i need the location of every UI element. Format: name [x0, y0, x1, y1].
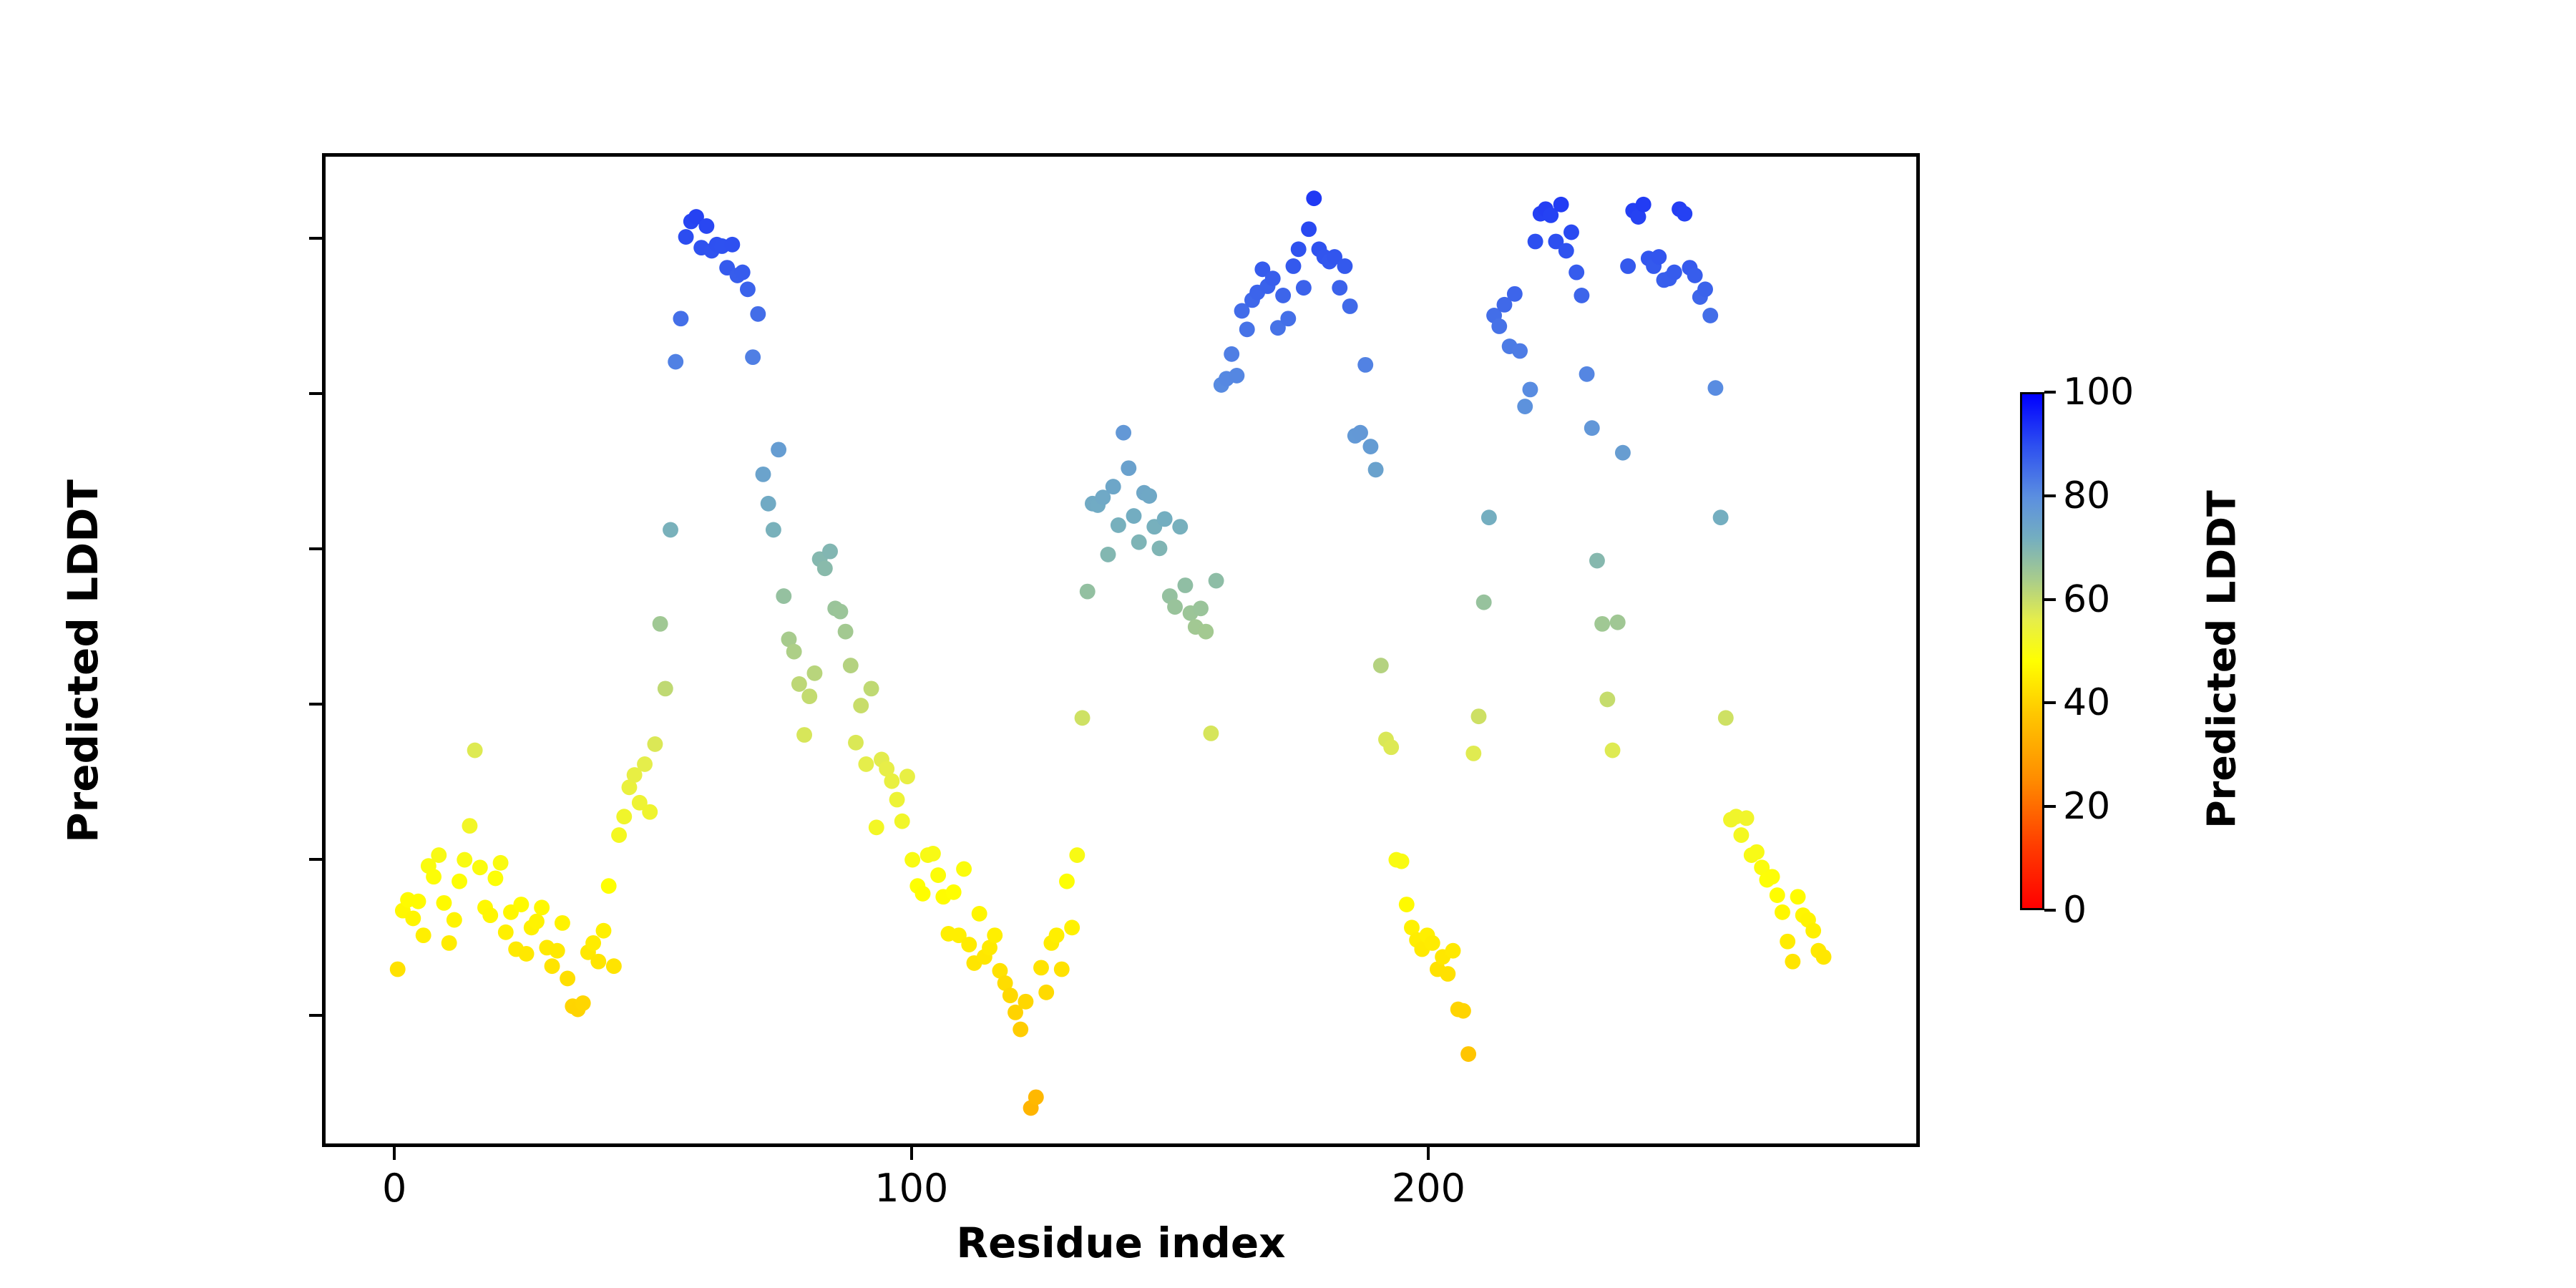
scatter-point: [1075, 710, 1091, 726]
scatter-point: [1352, 425, 1368, 441]
scatter-point: [596, 923, 612, 939]
x-tick-mark: [910, 1147, 913, 1160]
scatter-point: [1342, 298, 1358, 314]
x-tick-label: 200: [1342, 1166, 1514, 1211]
scatter-point: [1713, 509, 1729, 525]
scatter-point: [904, 852, 920, 868]
scatter-point: [1357, 357, 1373, 373]
scatter-point: [529, 914, 545, 930]
scatter-point: [1667, 265, 1682, 280]
scatter-point: [550, 943, 565, 959]
figure-canvas: 405060708090 0100200 Residue index Predi…: [0, 0, 2576, 1288]
scatter-point: [1805, 923, 1821, 939]
scatter-point: [745, 349, 761, 365]
scatter-point: [642, 804, 658, 820]
colorbar-tick-mark: [2044, 909, 2056, 912]
colorbar-tick-mark: [2044, 701, 2056, 704]
scatter-point: [1121, 460, 1136, 476]
scatter-point: [1059, 874, 1075, 889]
scatter-point: [658, 680, 673, 696]
y-tick-mark: [309, 237, 322, 240]
colorbar-gradient: [2020, 392, 2044, 910]
scatter-point: [1476, 595, 1492, 610]
scatter-point: [1399, 897, 1415, 912]
scatter-point: [1198, 624, 1214, 640]
scatter-point: [441, 935, 457, 951]
scatter-point: [405, 910, 421, 926]
scatter-point: [590, 954, 606, 970]
colorbar-tick-mark: [2044, 805, 2056, 808]
scatter-point: [853, 698, 869, 713]
scatter-point: [493, 855, 509, 871]
scatter-point: [796, 727, 812, 743]
colorbar-tick-label: 100: [2063, 371, 2134, 414]
scatter-point: [832, 604, 848, 620]
scatter-point: [487, 870, 503, 886]
scatter-point: [1579, 366, 1595, 382]
scatter-point: [1286, 258, 1302, 274]
scatter-point: [1224, 346, 1239, 362]
scatter-point: [416, 927, 431, 943]
scatter-point: [1177, 577, 1193, 593]
scatter-point: [1620, 258, 1636, 274]
scatter-point: [1116, 425, 1131, 441]
scatter-point: [930, 867, 946, 883]
colorbar: 020406080100: [2020, 392, 2044, 910]
scatter-point: [1394, 854, 1410, 869]
scatter-point: [1816, 949, 1832, 965]
scatter-point: [534, 899, 550, 915]
scatter-point: [1507, 286, 1523, 302]
scatter-point: [1455, 1003, 1471, 1019]
scatter-point: [791, 676, 807, 692]
scatter-point: [858, 756, 874, 772]
scatter-point: [946, 884, 962, 900]
scatter-point: [698, 218, 714, 234]
x-tick-mark: [393, 1147, 396, 1160]
scatter-point: [1049, 927, 1065, 943]
scatter-point: [1677, 206, 1692, 222]
scatter-point: [801, 688, 817, 704]
scatter-point: [1101, 547, 1116, 562]
scatter-point: [1770, 887, 1785, 903]
scatter-point: [426, 869, 441, 884]
scatter-point: [668, 354, 683, 370]
scatter-point: [673, 311, 688, 326]
scatter-point: [1553, 197, 1569, 213]
scatter-point: [555, 915, 570, 931]
scatter-points-layer: [326, 157, 1916, 1143]
scatter-point: [843, 658, 859, 673]
scatter-point: [1280, 311, 1296, 326]
scatter-point: [616, 809, 632, 824]
scatter-point: [750, 306, 766, 322]
scatter-point: [1296, 280, 1312, 296]
scatter-point: [1306, 190, 1322, 206]
scatter-point: [1362, 439, 1378, 454]
scatter-point: [452, 874, 467, 889]
scatter-point: [601, 878, 617, 894]
scatter-point: [462, 818, 477, 834]
scatter-point: [1780, 934, 1795, 950]
scatter-point: [1599, 692, 1615, 708]
scatter-point: [899, 769, 915, 784]
scatter-point: [1785, 954, 1800, 970]
scatter-point: [1332, 280, 1347, 296]
scatter-point: [1739, 810, 1755, 826]
scatter-point: [637, 756, 653, 772]
scatter-point: [1636, 197, 1652, 213]
scatter-point: [1465, 746, 1481, 761]
scatter-point: [1765, 869, 1780, 884]
colorbar-label: Predicted LDDT: [2200, 374, 2245, 946]
scatter-point: [1512, 343, 1528, 359]
scatter-point: [647, 736, 663, 752]
scatter-point: [1167, 599, 1183, 615]
scatter-point: [498, 924, 514, 940]
scatter-point: [1038, 985, 1054, 1000]
scatter-point: [1106, 479, 1121, 494]
scatter-point: [1574, 288, 1589, 303]
scatter-point: [1707, 380, 1723, 396]
scatter-point: [761, 496, 776, 512]
scatter-point: [1517, 399, 1533, 414]
scatter-point: [889, 792, 905, 808]
scatter-point: [467, 743, 483, 758]
scatter-point: [771, 441, 786, 457]
scatter-point: [1471, 708, 1487, 724]
scatter-point: [1697, 281, 1713, 297]
scatter-point: [457, 852, 472, 868]
scatter-point: [1141, 488, 1157, 504]
scatter-point: [1152, 540, 1168, 556]
scatter-point: [1440, 966, 1455, 982]
scatter-point: [884, 774, 899, 789]
scatter-point: [472, 859, 488, 875]
scatter-point: [786, 644, 802, 660]
scatter-point: [1275, 288, 1291, 303]
scatter-point: [1157, 511, 1173, 527]
scatter-point: [1064, 919, 1080, 935]
scatter-point: [1080, 584, 1096, 600]
colorbar-tick-mark: [2044, 391, 2056, 394]
x-tick-label: 100: [826, 1166, 997, 1211]
scatter-point: [1383, 739, 1399, 755]
scatter-point: [848, 735, 864, 751]
plot-area: [322, 153, 1920, 1147]
y-tick-mark: [309, 1014, 322, 1017]
scatter-point: [1775, 904, 1790, 920]
scatter-point: [1131, 535, 1147, 550]
scatter-point: [1522, 381, 1538, 397]
scatter-point: [822, 544, 838, 560]
scatter-point: [1481, 509, 1497, 525]
scatter-point: [1111, 517, 1126, 533]
scatter-point: [1610, 615, 1626, 630]
scatter-point: [956, 862, 972, 877]
scatter-point: [1033, 960, 1049, 975]
colorbar-tick-label: 80: [2063, 474, 2110, 517]
scatter-point: [1584, 420, 1600, 436]
scatter-point: [611, 827, 627, 843]
colorbar-tick-mark: [2044, 598, 2056, 601]
scatter-point: [1291, 241, 1307, 257]
scatter-point: [925, 846, 941, 862]
y-tick-mark: [309, 703, 322, 706]
scatter-point: [1203, 726, 1219, 741]
scatter-point: [1528, 234, 1543, 250]
scatter-point: [1193, 600, 1209, 616]
scatter-point: [1337, 258, 1352, 274]
y-axis-label: Predicted LDDT: [59, 303, 107, 1019]
scatter-point: [1790, 889, 1806, 904]
scatter-point: [766, 522, 781, 538]
scatter-point: [436, 895, 452, 911]
scatter-point: [1209, 573, 1224, 589]
scatter-point: [724, 237, 740, 253]
scatter-point: [1239, 321, 1255, 337]
scatter-point: [447, 912, 462, 928]
x-tick-label: 0: [308, 1166, 480, 1211]
scatter-point: [1425, 935, 1440, 951]
scatter-point: [1002, 987, 1018, 1003]
scatter-point: [756, 467, 771, 482]
scatter-point: [1718, 710, 1734, 726]
scatter-point: [735, 265, 751, 280]
scatter-point: [1028, 1089, 1044, 1105]
scatter-point: [869, 819, 884, 835]
scatter-point: [1563, 225, 1579, 240]
colorbar-tick-label: 0: [2063, 889, 2087, 932]
scatter-point: [817, 560, 833, 576]
scatter-point: [1229, 368, 1244, 384]
scatter-point: [1558, 243, 1574, 259]
scatter-point: [915, 886, 931, 902]
x-axis-label: Residue index: [322, 1219, 1920, 1267]
colorbar-tick-label: 40: [2063, 681, 2110, 724]
scatter-point: [1445, 943, 1461, 959]
scatter-point: [1615, 445, 1631, 461]
scatter-point: [653, 616, 668, 632]
scatter-point: [776, 588, 791, 604]
scatter-point: [585, 935, 601, 951]
scatter-point: [987, 927, 1002, 943]
scatter-point: [1013, 1022, 1028, 1038]
scatter-point: [1589, 553, 1605, 569]
scatter-point: [545, 958, 560, 974]
y-tick-mark: [309, 547, 322, 550]
scatter-point: [838, 624, 854, 640]
scatter-point: [1651, 249, 1667, 265]
scatter-point: [431, 847, 447, 863]
scatter-point: [740, 281, 756, 297]
scatter-point: [560, 971, 575, 987]
scatter-point: [482, 907, 498, 923]
scatter-point: [678, 229, 694, 245]
y-tick-mark: [309, 392, 322, 395]
scatter-point: [1126, 508, 1142, 524]
scatter-point: [1687, 268, 1703, 283]
scatter-point: [972, 906, 987, 922]
scatter-point: [1605, 743, 1621, 758]
scatter-point: [575, 995, 591, 1011]
scatter-point: [1301, 221, 1317, 237]
scatter-point: [864, 680, 879, 696]
x-tick-mark: [1427, 1147, 1430, 1160]
scatter-point: [1265, 270, 1281, 286]
scatter-point: [1702, 308, 1718, 323]
scatter-point: [390, 962, 406, 977]
scatter-point: [806, 665, 822, 681]
scatter-point: [663, 522, 678, 538]
scatter-point: [1491, 318, 1507, 334]
scatter-point: [513, 897, 529, 912]
colorbar-tick-label: 60: [2063, 578, 2110, 621]
scatter-point: [1568, 265, 1584, 280]
scatter-point: [1749, 844, 1765, 860]
scatter-point: [961, 937, 977, 952]
scatter-point: [1054, 962, 1070, 977]
scatter-point: [1594, 616, 1610, 632]
colorbar-tick-mark: [2044, 494, 2056, 497]
scatter-point: [1368, 462, 1384, 477]
scatter-point: [1733, 827, 1749, 843]
scatter-point: [1172, 519, 1188, 535]
colorbar-tick-label: 20: [2063, 785, 2110, 828]
scatter-point: [411, 894, 426, 909]
y-tick-mark: [309, 858, 322, 861]
scatter-point: [1460, 1046, 1476, 1062]
scatter-point: [606, 958, 622, 974]
scatter-point: [1373, 658, 1389, 673]
scatter-point: [894, 814, 910, 829]
scatter-point: [1018, 994, 1033, 1010]
scatter-point: [519, 946, 535, 962]
scatter-point: [1069, 847, 1085, 863]
